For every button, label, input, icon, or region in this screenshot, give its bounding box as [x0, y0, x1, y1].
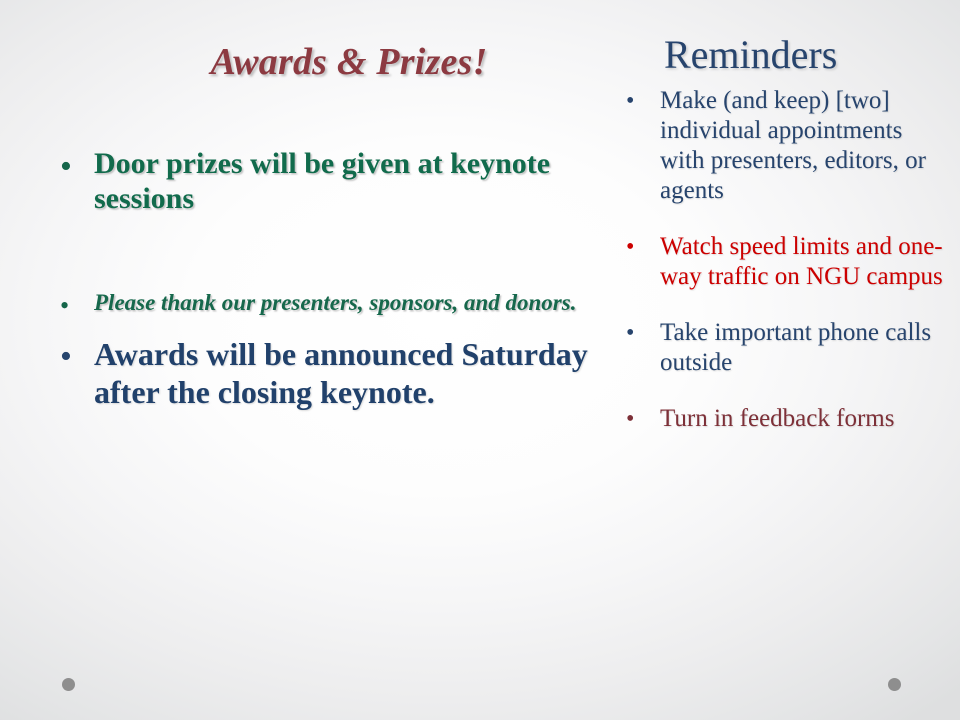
reminders-heading: Reminders — [664, 34, 944, 76]
list-item: • Watch speed limits and one-way traffic… — [626, 232, 944, 292]
decorative-dot-left — [62, 678, 75, 691]
bullet-dot-icon: • — [626, 404, 660, 431]
page-title: Awards & Prizes! — [60, 42, 620, 84]
list-item: • Turn in feedback forms — [626, 404, 944, 434]
right-content-column: Reminders • Make (and keep) [two] indivi… — [626, 34, 944, 460]
list-item-text: Turn in feedback forms — [660, 404, 944, 434]
list-item-text: Awards will be announced Saturday after … — [94, 335, 620, 412]
bullet-dot-icon: • — [60, 289, 94, 319]
left-content-column: Awards & Prizes! • Door prizes will be g… — [60, 24, 620, 664]
list-item-text: Door prizes will be given at keynote ses… — [94, 146, 620, 217]
left-bullet-list: • Door prizes will be given at keynote s… — [60, 146, 620, 412]
bullet-dot-icon: • — [60, 335, 94, 374]
bullet-dot-icon: • — [626, 86, 660, 113]
list-item: • Please thank our presenters, sponsors,… — [60, 289, 620, 319]
list-item: • Door prizes will be given at keynote s… — [60, 146, 620, 217]
bullet-dot-icon: • — [626, 318, 660, 345]
presentation-slide: Awards & Prizes! • Door prizes will be g… — [0, 0, 960, 720]
list-item-text: Take important phone calls outside — [660, 318, 944, 378]
reminders-list: • Make (and keep) [two] individual appoi… — [626, 86, 944, 434]
list-item: • Take important phone calls outside — [626, 318, 944, 378]
bullet-dot-icon: • — [60, 146, 94, 184]
list-item-text: Please thank our presenters, sponsors, a… — [94, 289, 620, 318]
bullet-dot-icon: • — [626, 232, 660, 259]
list-item: • Awards will be announced Saturday afte… — [60, 335, 620, 412]
list-item: • Make (and keep) [two] individual appoi… — [626, 86, 944, 206]
list-item-text: Make (and keep) [two] individual appoint… — [660, 86, 944, 206]
list-item-text: Watch speed limits and one-way traffic o… — [660, 232, 944, 292]
decorative-dot-right — [888, 678, 901, 691]
